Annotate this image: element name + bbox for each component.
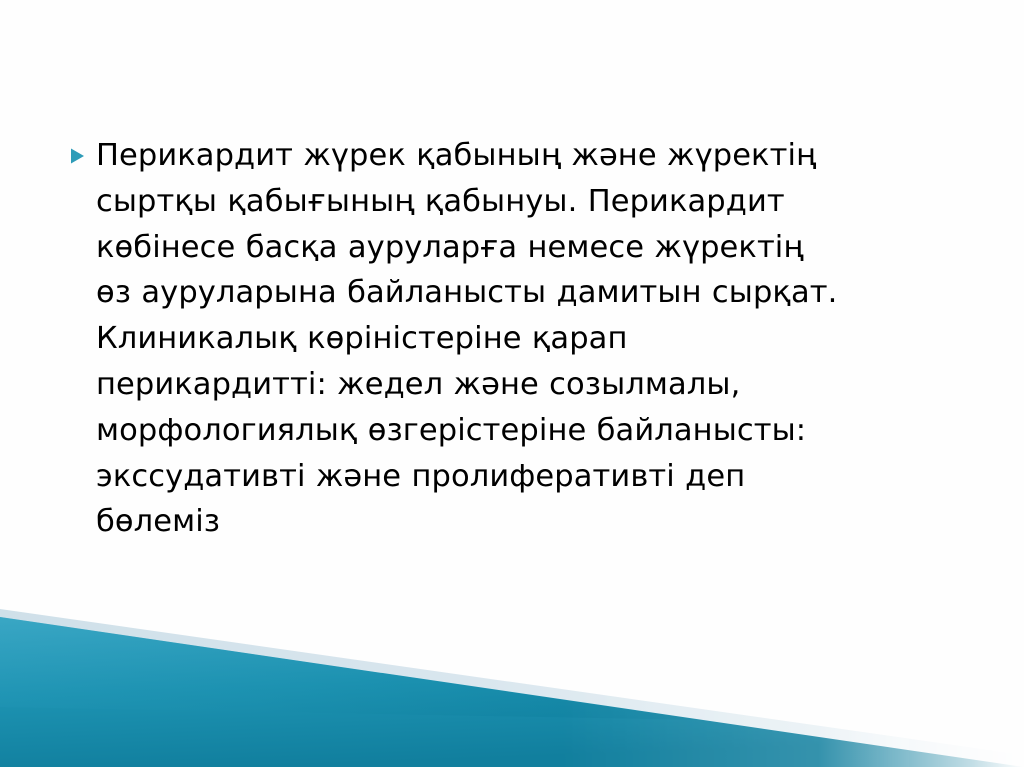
body-text-placeholder[interactable]: Перикардит жүрек қабының және жүректің с… — [70, 133, 960, 545]
slide-canvas: Перикардит жүрек қабының және жүректің с… — [0, 0, 1024, 767]
teal-sheen — [0, 617, 700, 720]
pale-blue-stripe — [0, 609, 1024, 767]
bullet-item-text: Перикардит жүрек қабының және жүректің с… — [96, 133, 960, 545]
triangle-right-icon — [70, 133, 96, 165]
black-stripe — [0, 621, 1024, 767]
bottom-decorative-band — [0, 587, 1024, 767]
bullet-list-item[interactable]: Перикардит жүрек қабының және жүректің с… — [70, 133, 960, 545]
teal-stripe — [0, 617, 1024, 767]
